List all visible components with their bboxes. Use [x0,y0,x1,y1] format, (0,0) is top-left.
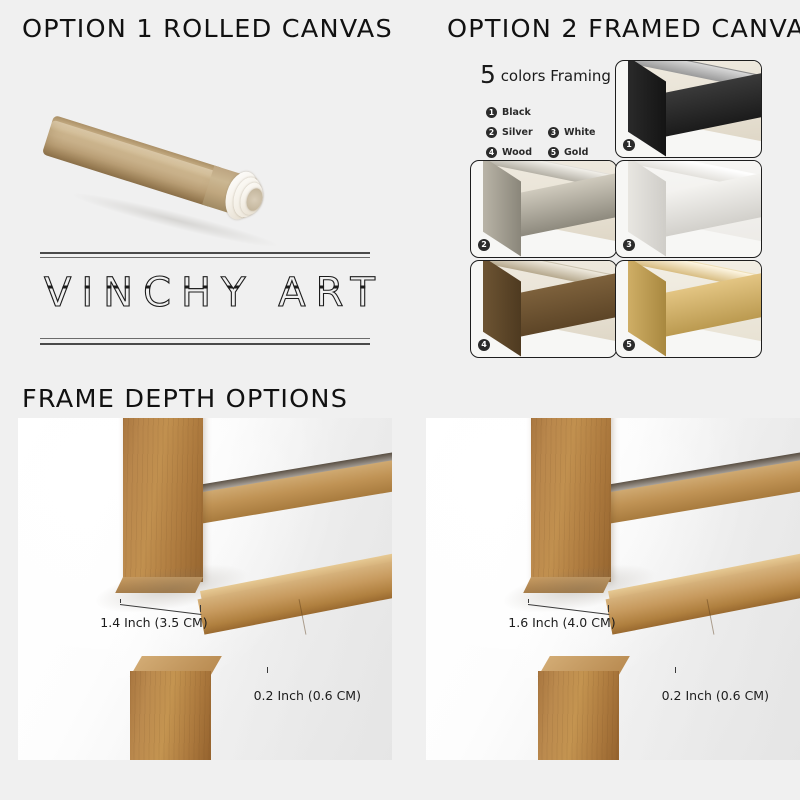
option-1-heading: OPTION 1 ROLLED CANVAS [22,14,393,43]
legend-title: 5 colors Framing [480,60,611,89]
depth-dimension-label: 1.6 Inch (4.0 CM) [508,615,615,630]
brand-logo: VINCHY ART [40,252,370,352]
legend-row: 2 Silver 3 White [486,122,610,142]
badge-1-icon: 1 [486,107,497,118]
dimension-tick [528,599,529,603]
dimension-tick [267,667,268,673]
legend-label: Wood [502,147,532,158]
badge-2-icon: 2 [478,239,490,251]
frame-corner-illustration [616,61,761,157]
logo-rule-bottom-thin [40,338,370,339]
frame-swatch-black[interactable]: 1 [615,60,762,158]
badge-5-icon: 5 [548,147,559,158]
legend-row: 4 Wood 5 Gold [486,142,610,162]
width-dimension-label: 0.2 Inch (0.6 CM) [662,688,769,703]
frame-corner-illustration [616,161,761,257]
dimension-tick [200,605,201,612]
option-2-heading: OPTION 2 FRAMED CANVAS [447,14,800,43]
width-dimension-label: 0.2 Inch (0.6 CM) [254,688,361,703]
badge-2-icon: 2 [486,127,497,138]
legend-item-wood: 4 Wood [486,147,548,158]
frame-swatch-silver[interactable]: 2 [470,160,617,258]
frame-swatch-wood[interactable]: 4 [470,260,617,358]
badge-4-icon: 4 [486,147,497,158]
rolled-canvas-tube-icon [40,62,300,202]
badge-3-icon: 3 [623,239,635,251]
legend-rows: 1 Black 2 Silver 3 White 4 [486,102,610,162]
legend-count: 5 [480,60,496,89]
dimension-tick [608,605,609,612]
lower-vertical-stile [538,671,618,760]
legend-label: Black [502,107,531,118]
legend-item-white: 3 White [548,127,610,138]
logo-rule-bottom [40,343,370,345]
tube-body [42,115,222,207]
legend-label: Silver [502,127,533,138]
logo-rule-top-thin [40,257,370,258]
lower-vertical-stile [130,671,210,760]
frame-corner-illustration [616,261,761,357]
dimension-tick [675,667,676,673]
legend-item-silver: 2 Silver [486,127,548,138]
frame-swatch-white[interactable]: 3 [615,160,762,258]
frame-depth-heading: FRAME DEPTH OPTIONS [22,384,348,413]
badge-4-icon: 4 [478,339,490,351]
brand-name: VINCHY ART [44,270,374,316]
frame-vertical-stile [531,418,611,582]
infographic-canvas: OPTION 1 ROLLED CANVAS VINCHY ART OPTION… [0,0,800,800]
dimension-tick [120,599,121,603]
logo-rule-top [40,252,370,254]
depth-dimension-label: 1.4 Inch (3.5 CM) [100,615,207,630]
legend-label: Gold [564,147,588,158]
legend-label: White [564,127,595,138]
legend-title-text: colors Framing [501,67,611,85]
legend-row: 1 Black [486,102,610,122]
legend-item-black: 1 Black [486,107,548,118]
badge-3-icon: 3 [548,127,559,138]
legend-item-gold: 5 Gold [548,147,610,158]
deep-depth-photo: 1.6 Inch (4.0 CM) 0.2 Inch (0.6 CM) [426,418,800,760]
frame-color-grid: 5 colors Framing 1 Black 2 Silver 3 [470,58,762,363]
frame-corner-illustration [471,161,616,257]
badge-5-icon: 5 [623,339,635,351]
standard-depth-photo: 1.4 Inch (3.5 CM) 0.2 Inch (0.6 CM) [18,418,392,760]
badge-1-icon: 1 [623,139,635,151]
frame-vertical-stile [123,418,203,582]
frame-swatch-gold[interactable]: 5 [615,260,762,358]
frame-corner-illustration [471,261,616,357]
frame-color-legend: 5 colors Framing 1 Black 2 Silver 3 [472,60,610,156]
